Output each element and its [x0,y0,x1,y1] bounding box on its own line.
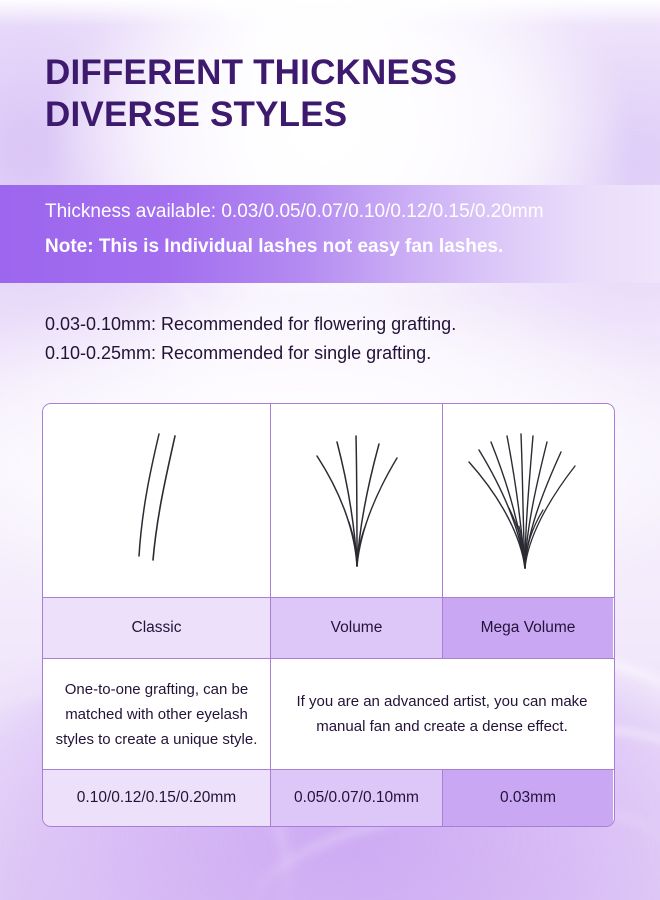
description-volume-mega: If you are an advanced artist, you can m… [271,659,613,769]
description-classic: One-to-one grafting, can be matched with… [43,659,271,769]
recommendation-line-2: 0.10-0.25mm: Recommended for single graf… [45,339,625,368]
mega-volume-fan-illustration [443,404,613,597]
banner-note-text: Note: This is Individual lashes not easy… [45,236,503,258]
table-cell-volume-illustration [271,404,443,597]
thickness-volume: 0.05/0.07/0.10mm [271,770,443,826]
thickness-available-text: Thickness available: 0.03/0.05/0.07/0.10… [45,201,544,223]
style-label-volume: Volume [271,598,443,658]
table-cell-mega-volume-illustration [443,404,613,597]
recommendation-line-1: 0.03-0.10mm: Recommended for flowering g… [45,310,625,339]
table-row-illustrations [43,404,614,597]
table-row-descriptions: One-to-one grafting, can be matched with… [43,658,614,769]
style-label-classic: Classic [43,598,271,658]
thickness-classic: 0.10/0.12/0.15/0.20mm [43,770,271,826]
volume-fan-illustration [271,404,442,597]
table-row-style-labels: Classic Volume Mega Volume [43,597,614,658]
thickness-banner: Thickness available: 0.03/0.05/0.07/0.10… [0,185,660,283]
page-title: DIFFERENT THICKNESS DIVERSE STYLES [45,52,615,136]
classic-lash-illustration [43,404,270,597]
lash-style-comparison-table: Classic Volume Mega Volume One-to-one gr… [42,403,615,827]
page-title-line-1: DIFFERENT THICKNESS [45,53,457,92]
page-title-line-2: DIVERSE STYLES [45,94,615,136]
style-label-mega-volume: Mega Volume [443,598,613,658]
recommendation-block: 0.03-0.10mm: Recommended for flowering g… [45,310,625,368]
table-cell-classic-illustration [43,404,271,597]
table-row-thicknesses: 0.10/0.12/0.15/0.20mm 0.05/0.07/0.10mm 0… [43,769,614,826]
thickness-mega-volume: 0.03mm [443,770,613,826]
